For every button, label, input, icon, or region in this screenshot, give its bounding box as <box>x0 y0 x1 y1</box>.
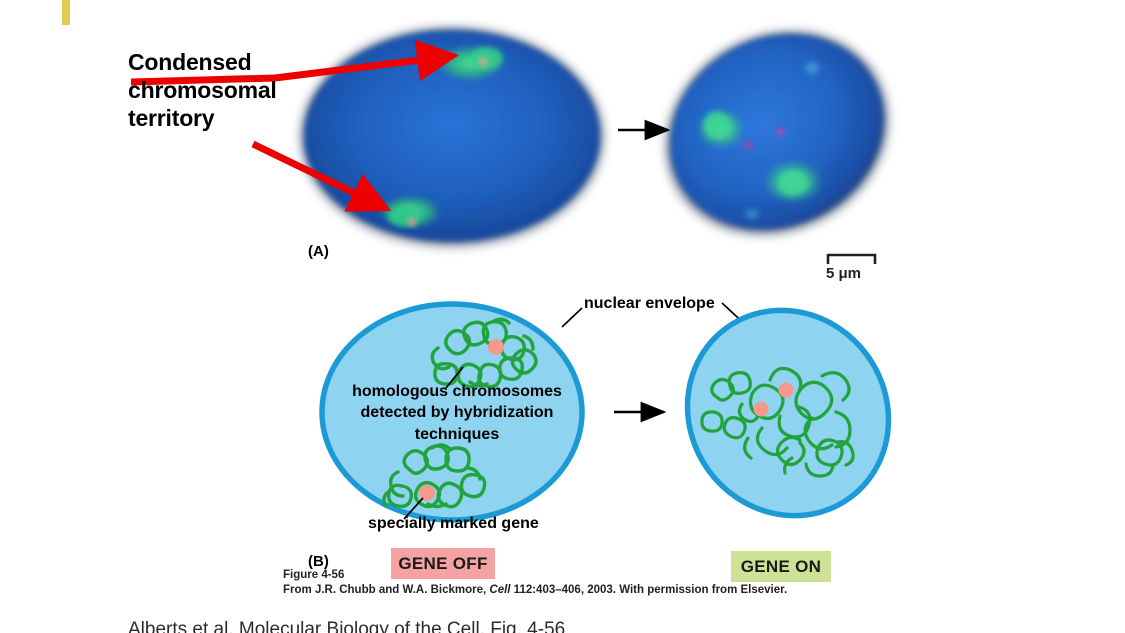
homologous-line-1: homologous chromosomes <box>330 381 584 402</box>
panel-a-label: (A) <box>308 243 329 260</box>
credit-suffix: 112:403–406, 2003. With permission from … <box>510 584 787 596</box>
annotation-line-1: Condensed <box>128 48 338 76</box>
annotation-line-3: territory <box>128 104 338 132</box>
leader-envelope-left <box>562 308 582 327</box>
annotation-line-2: chromosomal <box>128 76 338 104</box>
figure-number: Figure 4-56 <box>283 568 787 583</box>
credit-line: From J.R. Chubb and W.A. Bickmore, Cell … <box>283 583 787 598</box>
micrograph-right <box>629 0 924 274</box>
specially-marked-gene-label: specially marked gene <box>368 515 539 533</box>
figure-credit: Figure 4-56 From J.R. Chubb and W.A. Bic… <box>283 568 787 598</box>
source-caption: Alberts et al, Molecular Biology of the … <box>128 619 565 633</box>
credit-prefix: From J.R. Chubb and W.A. Bickmore, <box>283 584 489 596</box>
gene-dot-upper-left-diagram <box>488 339 504 355</box>
nuclear-envelope-label: nuclear envelope <box>584 295 715 313</box>
annotation-label: Condensed chromosomal territory <box>128 48 338 132</box>
slide: Condensed chromosomal territory (A) 5 μm… <box>0 0 1125 633</box>
homologous-line-3: techniques <box>330 424 584 445</box>
scale-bar-label: 5 μm <box>826 265 861 282</box>
diagram-nucleus-right <box>647 270 929 555</box>
gene-dot-right-right-diagram <box>779 383 794 398</box>
homologous-chromosomes-label: homologous chromosomes detected by hybri… <box>330 381 584 445</box>
credit-journal: Cell <box>489 584 510 596</box>
gene-dot-left-right-diagram <box>754 402 769 417</box>
homologous-line-2: detected by hybridization <box>330 402 584 423</box>
scale-bar <box>828 254 876 264</box>
micrograph-left <box>300 27 604 247</box>
